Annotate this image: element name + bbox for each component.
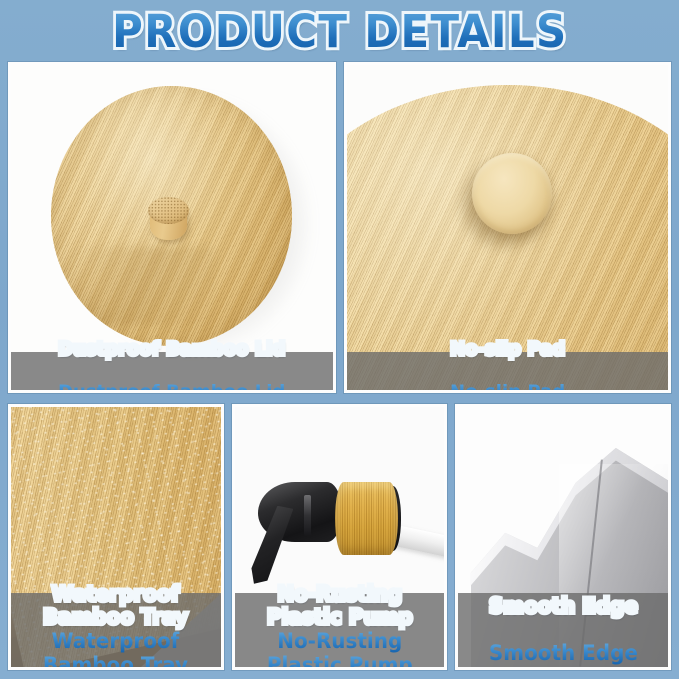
caption-bar-no-rusting-plastic-pump: No-Rusting Plastic Pump No-Rusting Plast… [235, 593, 445, 667]
caption-fill: No-Rusting Plastic Pump [267, 629, 413, 670]
caption-text: Dustproof Bamboo Lid Dustproof Bamboo Li… [58, 339, 285, 393]
caption-outline: Dustproof Bamboo Lid [58, 339, 285, 360]
caption-text: No-slip Pad No-slip Pad [450, 339, 565, 393]
caption-bar-waterproof-bamboo-tray: Waterproof Bamboo Tray Waterproof Bamboo… [11, 593, 221, 667]
pump-bamboo-collar [335, 482, 398, 555]
panel-row-bottom: Waterproof Bamboo Tray Waterproof Bamboo… [8, 404, 671, 670]
caption-fill: Waterproof Bamboo Tray [43, 629, 188, 670]
caption-fill: Smooth Edge [489, 641, 638, 665]
product-details-infographic: PRODUCT DETAILS PRODUCT DETAILS [0, 0, 679, 679]
caption-fill: No-slip Pad [450, 381, 565, 393]
caption-outline: Waterproof Bamboo Tray [43, 583, 188, 630]
caption-bar-smooth-edge: Smooth Edge Smooth Edge [458, 593, 668, 667]
lid-knob [148, 197, 190, 241]
panel-smooth-edge[interactable]: Smooth Edge Smooth Edge [455, 404, 671, 670]
page-title-fill: PRODUCT DETAILS [112, 5, 567, 58]
no-slip-pad-disc [472, 153, 552, 234]
caption-bar-dustproof-bamboo-lid: Dustproof Bamboo Lid Dustproof Bamboo Li… [11, 352, 333, 390]
panel-waterproof-bamboo-tray[interactable]: Waterproof Bamboo Tray Waterproof Bamboo… [8, 404, 224, 670]
lid-knob-top [148, 197, 190, 224]
caption-fill: Dustproof Bamboo Lid [58, 381, 285, 393]
caption-text: Smooth Edge Smooth Edge [489, 595, 638, 666]
caption-outline: No-slip Pad [450, 339, 565, 360]
caption-text: Waterproof Bamboo Tray Waterproof Bamboo… [43, 583, 188, 670]
caption-text: No-Rusting Plastic Pump No-Rusting Plast… [267, 583, 413, 670]
panel-no-rusting-plastic-pump[interactable]: No-Rusting Plastic Pump No-Rusting Plast… [232, 404, 448, 670]
caption-outline: Smooth Edge [489, 595, 638, 619]
page-title-text: PRODUCT DETAILS PRODUCT DETAILS [112, 9, 567, 54]
pump-ring [304, 495, 311, 535]
caption-outline: No-Rusting Plastic Pump [267, 583, 413, 630]
page-title: PRODUCT DETAILS PRODUCT DETAILS [0, 4, 679, 58]
caption-bar-no-slip-pad: No-slip Pad No-slip Pad [347, 352, 669, 390]
lid-grain-shade [70, 247, 215, 325]
panel-row-top: Dustproof Bamboo Lid Dustproof Bamboo Li… [8, 62, 671, 393]
panel-no-slip-pad[interactable]: No-slip Pad No-slip Pad [344, 62, 672, 393]
panel-dustproof-bamboo-lid[interactable]: Dustproof Bamboo Lid Dustproof Bamboo Li… [8, 62, 336, 393]
